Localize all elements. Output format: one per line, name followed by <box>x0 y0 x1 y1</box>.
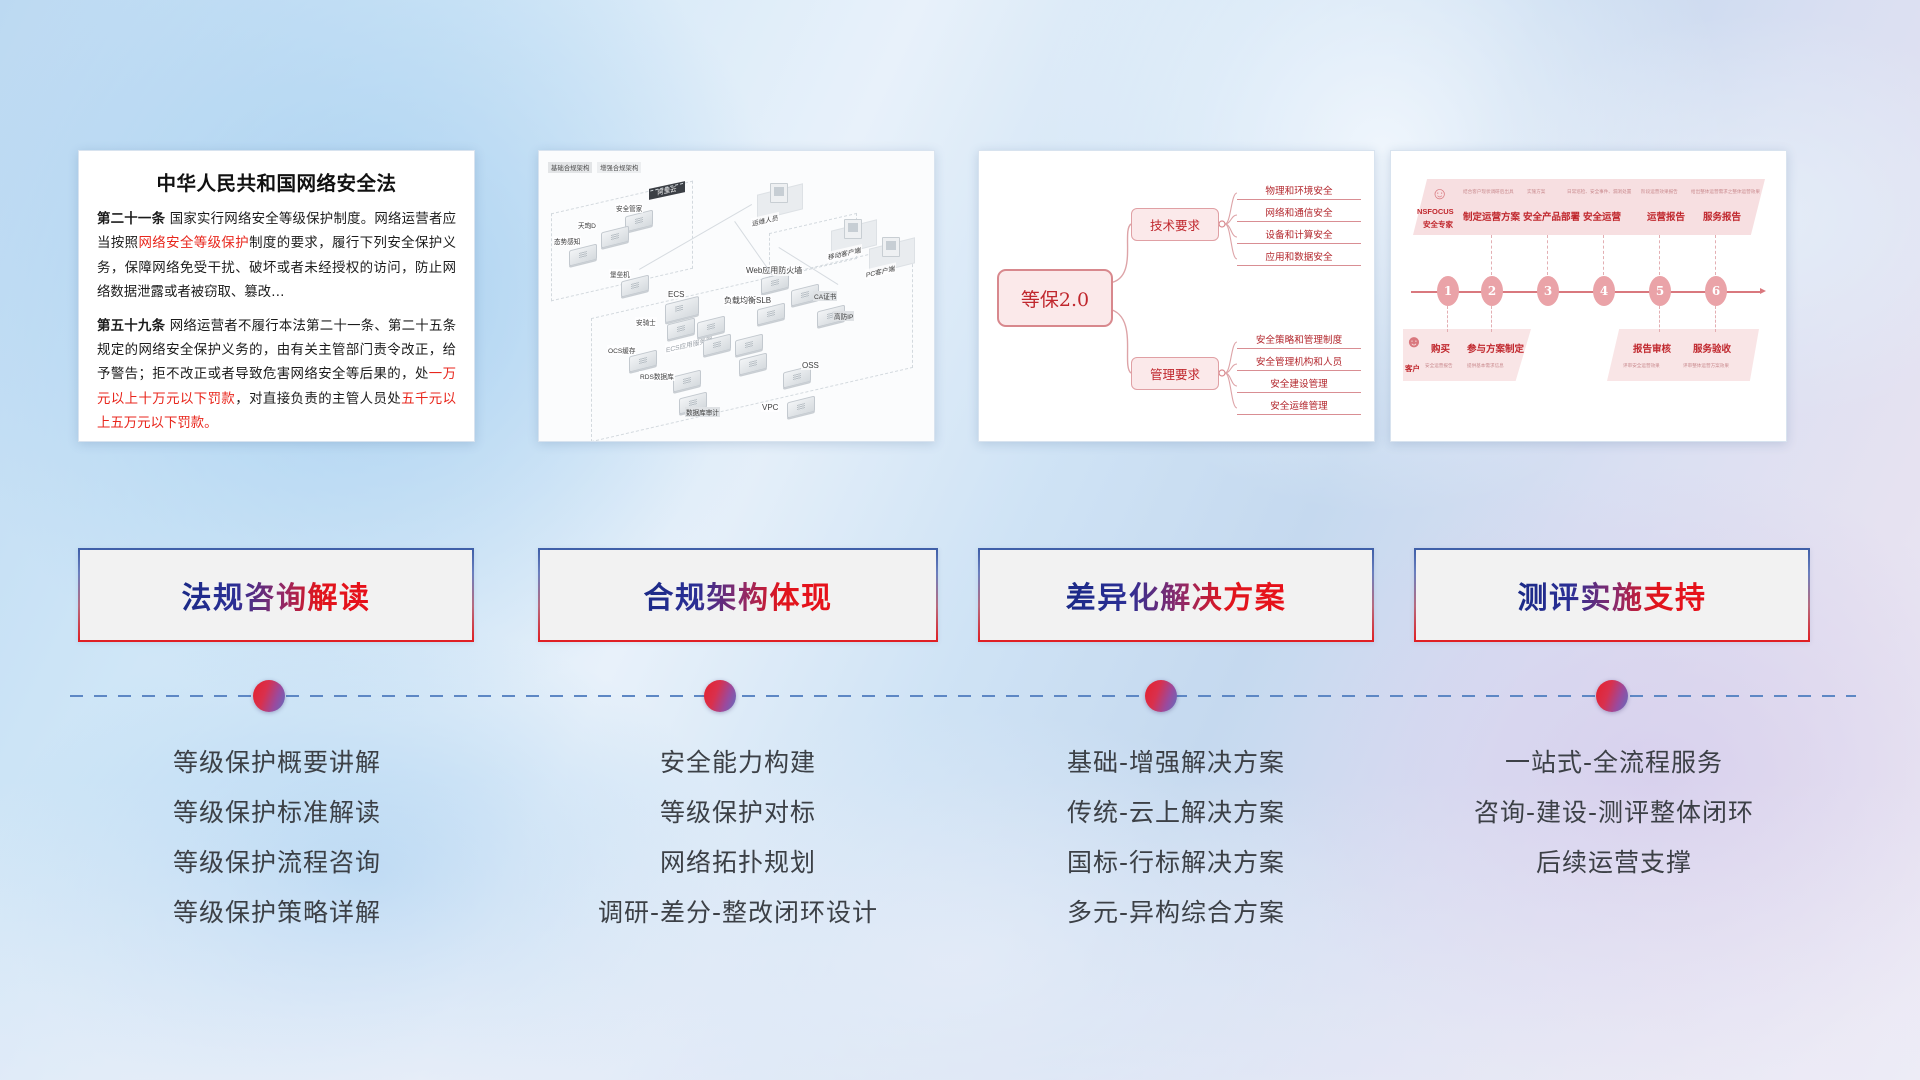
law-title: 中华人民共和国网络安全法 <box>97 167 456 196</box>
section-title-label-2: 合规架构体现 <box>644 573 833 617</box>
section-title-box-1[interactable]: 法规咨询解读 <box>78 548 474 642</box>
list-item: 等级保护对标 <box>538 788 938 838</box>
expert-brand-label: NSFOCUS <box>1417 207 1454 216</box>
timeline-tick-2 <box>1491 235 1493 275</box>
timeline-band-expert <box>1413 179 1765 235</box>
law-article-59-label: 第五十九条 <box>97 319 165 334</box>
list-item: 安全能力构建 <box>538 738 938 788</box>
section-title-box-4[interactable]: 测评实施支持 <box>1414 548 1810 642</box>
list-item: 网络拓扑规划 <box>538 838 938 888</box>
timeline-bead-3[interactable] <box>1145 680 1177 712</box>
expert-person-icon: ☺ <box>1431 185 1448 202</box>
section-title-label-4: 测评实施支持 <box>1518 573 1707 617</box>
customer-role-label: 客户 <box>1405 363 1420 374</box>
mindmap-leaf-mgmt-4: 安全运维管理 <box>1237 398 1361 415</box>
expert-role-label: 安全专家 <box>1423 219 1453 230</box>
section-items-1: 等级保护概要讲解 等级保护标准解读 等级保护流程咨询 等级保护策略详解 <box>80 738 474 938</box>
section-items-4: 一站式-全流程服务 咨询-建设-测评整体闭环 后续运营支撑 <box>1414 738 1814 888</box>
label-tianxun: 天珣D <box>577 220 597 230</box>
mindmap-canvas: 等保2.0 技术要求 管理要求 物理和环境安全 网络和通信安全 设备和计算安全 … <box>979 151 1374 441</box>
label-vpc: VPC <box>761 403 779 412</box>
card-mindmap[interactable]: 等保2.0 技术要求 管理要求 物理和环境安全 网络和通信安全 设备和计算安全 … <box>978 150 1375 442</box>
label-anti-ddos-ip: 高防IP <box>833 311 854 321</box>
label-oss: OSS <box>801 361 820 370</box>
label-database-audit: 数据库审计 <box>685 407 720 417</box>
law-article-21-label: 第二十一条 <box>97 212 165 227</box>
bottom-step-5-sub: 评审安全运营效果 <box>1623 363 1660 369</box>
section-items-2: 安全能力构建 等级保护对标 网络拓扑规划 调研-差分-整改闭环设计 <box>538 738 938 938</box>
timeline-step-dot-2[interactable]: 2 <box>1481 276 1503 306</box>
list-item: 等级保护标准解读 <box>80 788 474 838</box>
timeline-tick-4 <box>1603 235 1605 275</box>
list-item: 等级保护概要讲解 <box>80 738 474 788</box>
label-anqishi: 安骑士 <box>635 317 657 327</box>
timeline-tick-bottom-2 <box>1491 306 1493 332</box>
timeline-tick-bottom-6 <box>1715 306 1717 332</box>
tab-basic-architecture[interactable]: 基础合规架构 <box>548 162 592 173</box>
timeline-band-customer-right <box>1607 329 1759 381</box>
label-security-butler: 安全管家 <box>615 203 643 213</box>
label-ca-certificate: CA证书 <box>813 291 837 301</box>
top-step-2-sub: 实施方案 <box>1527 189 1545 195</box>
mindmap-node-technical: 技术要求 <box>1131 208 1219 241</box>
list-item: 后续运营支撑 <box>1414 838 1814 888</box>
mindmap-leaf-tech-4: 应用和数据安全 <box>1237 249 1361 266</box>
icon-vpc <box>787 396 815 419</box>
label-waf: Web应用防火墙 <box>745 265 803 276</box>
timeline-bead-2[interactable] <box>704 680 736 712</box>
timeline-step-dot-1[interactable]: 1 <box>1437 276 1459 306</box>
section-title-row: 法规咨询解读 合规架构体现 差异化解决方案 测评实施支持 <box>0 548 1920 644</box>
label-rds-database: RDS数据库 <box>639 371 675 381</box>
timeline-dashed-line <box>70 695 1856 697</box>
section-title-box-3[interactable]: 差异化解决方案 <box>978 548 1374 642</box>
bottom-step-6-sub: 评审整体运营方案效果 <box>1683 363 1729 369</box>
timeline-bead-1[interactable] <box>253 680 285 712</box>
tab-enhanced-architecture[interactable]: 增强合规架构 <box>597 162 641 173</box>
section-title-box-2[interactable]: 合规架构体现 <box>538 548 938 642</box>
section-items-row: 等级保护概要讲解 等级保护标准解读 等级保护流程咨询 等级保护策略详解 安全能力… <box>0 738 1920 1038</box>
list-item: 基础-增强解决方案 <box>978 738 1374 788</box>
bottom-step-6-title: 服务验收 <box>1693 341 1731 355</box>
bottom-step-1-title: 购买 <box>1431 341 1450 355</box>
list-item: 一站式-全流程服务 <box>1414 738 1814 788</box>
bottom-step-1-sub: 安全运营报告 <box>1425 363 1453 369</box>
timeline-tick-6 <box>1715 235 1717 275</box>
timeline-bead-4[interactable] <box>1596 680 1628 712</box>
list-item: 国标-行标解决方案 <box>978 838 1374 888</box>
law-article-59-text-b: ，对直接负责的主管人员处 <box>235 392 401 407</box>
label-slb: 负载均衡SLB <box>723 295 772 306</box>
card-service-timeline[interactable]: ☺ NSFOCUS 安全专家 结合客户现状调研后出具 制定运营方案 实施方案 安… <box>1390 150 1787 442</box>
bottom-step-5-title: 报告审核 <box>1633 341 1671 355</box>
list-item: 传统-云上解决方案 <box>978 788 1374 838</box>
law-document: 中华人民共和国网络安全法 第二十一条 国家实行网络安全等级保护制度。网络运营者应… <box>79 151 474 441</box>
timeline-tick-bottom-1 <box>1447 306 1449 332</box>
mindmap-root-node: 等保2.0 <box>997 269 1113 327</box>
mindmap-leaf-mgmt-1: 安全策略和管理制度 <box>1237 332 1361 349</box>
timeline-canvas: ☺ NSFOCUS 安全专家 结合客户现状调研后出具 制定运营方案 实施方案 安… <box>1391 151 1786 441</box>
timeline-tick-bottom-5 <box>1659 306 1661 332</box>
section-title-label-3: 差异化解决方案 <box>1066 573 1287 617</box>
timeline-step-dot-6[interactable]: 6 <box>1705 276 1727 306</box>
bottom-step-2-title: 参与方案制定 <box>1467 341 1524 355</box>
top-step-2-title: 安全产品部署 <box>1523 209 1580 223</box>
label-bastion-host: 堡垒机 <box>609 269 631 279</box>
timeline-tick-3 <box>1547 235 1549 275</box>
label-ocs-cache: OCS缓存 <box>607 345 636 355</box>
timeline-tick-5 <box>1659 235 1661 275</box>
icon-pc-client <box>882 237 900 257</box>
top-step-1-sub: 结合客户现状调研后出具 <box>1463 189 1514 195</box>
icon-ops-user-monitor <box>770 183 788 203</box>
top-step-1-title: 制定运营方案 <box>1463 209 1520 223</box>
list-item: 等级保护流程咨询 <box>80 838 474 888</box>
law-article-59: 第五十九条 网络运营者不履行本法第二十一条、第二十五条规定的网络安全保护义务的，… <box>97 315 456 437</box>
list-item: 咨询-建设-测评整体闭环 <box>1414 788 1814 838</box>
top-step-4-sub: 阶段运营效果报告 <box>1641 189 1678 195</box>
law-article-21: 第二十一条 国家实行网络安全等级保护制度。网络运营者应当按照网络安全等级保护制度… <box>97 208 456 306</box>
timeline-step-dot-4[interactable]: 4 <box>1593 276 1615 306</box>
label-ecs: ECS <box>667 290 685 299</box>
section-items-3: 基础-增强解决方案 传统-云上解决方案 国标-行标解决方案 多元-异构综合方案 <box>978 738 1374 938</box>
mindmap-node-management: 管理要求 <box>1131 357 1219 390</box>
law-article-21-highlight: 网络安全等级保护 <box>138 236 249 251</box>
card-law-text[interactable]: 中华人民共和国网络安全法 第二十一条 国家实行网络安全等级保护制度。网络运营者应… <box>78 150 475 442</box>
top-step-5-sub: 给出整体运营需求之整体运营效果 <box>1691 189 1760 195</box>
mindmap-leaf-tech-1: 物理和环境安全 <box>1237 183 1361 200</box>
top-step-4-title: 运营报告 <box>1647 209 1685 223</box>
mindmap-leaf-tech-3: 设备和计算安全 <box>1237 227 1361 244</box>
list-item: 调研-差分-整改闭环设计 <box>538 888 938 938</box>
label-situational-awareness: 态势感知 <box>553 236 581 246</box>
list-item: 多元-异构综合方案 <box>978 888 1374 938</box>
timeline-step-dot-5[interactable]: 5 <box>1649 276 1671 306</box>
top-step-3-sub: 日常巡检、安全事件、漏洞处置 <box>1567 189 1631 195</box>
top-step-5-title: 服务报告 <box>1703 209 1741 223</box>
architecture-canvas: 基础合规架构 增强合规架构 阿里云 运维人员 移动客户端 PC客户端 安全管家 … <box>539 151 934 441</box>
list-item: 等级保护策略详解 <box>80 888 474 938</box>
timeline-step-dot-3[interactable]: 3 <box>1537 276 1559 306</box>
customer-person-icon: ☻ <box>1405 333 1423 350</box>
icon-mobile-client <box>844 219 862 239</box>
mindmap-leaf-mgmt-2: 安全管理机构和人员 <box>1237 354 1361 371</box>
top-step-3-title: 安全运营 <box>1583 209 1621 223</box>
mindmap-leaf-tech-2: 网络和通信安全 <box>1237 205 1361 222</box>
card-strip: 中华人民共和国网络安全法 第二十一条 国家实行网络安全等级保护制度。网络运营者应… <box>0 150 1920 450</box>
label-ops-user: 运维人员 <box>751 212 779 229</box>
mindmap-leaf-mgmt-3: 安全建设管理 <box>1237 376 1361 393</box>
bottom-step-2-sub: 提供基本需求信息 <box>1467 363 1504 369</box>
card-architecture-diagram[interactable]: 基础合规架构 增强合规架构 阿里云 运维人员 移动客户端 PC客户端 安全管家 … <box>538 150 935 442</box>
section-title-label-1: 法规咨询解读 <box>182 573 371 617</box>
